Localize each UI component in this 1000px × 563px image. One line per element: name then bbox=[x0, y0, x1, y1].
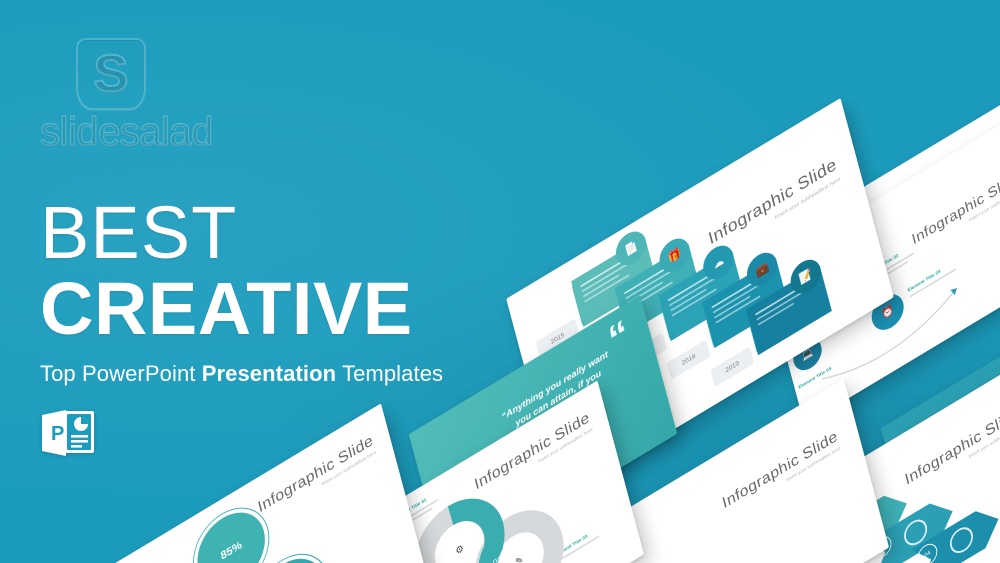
subheadline: Top PowerPoint Presentation Templates bbox=[40, 361, 470, 387]
slidesalad-shield-icon bbox=[76, 38, 146, 110]
svg-text:P: P bbox=[51, 423, 64, 445]
slidesalad-wordmark: slidesalad bbox=[40, 112, 213, 152]
open-quote-icon: “ bbox=[606, 318, 631, 354]
subheadline-suffix: Templates bbox=[336, 361, 443, 386]
hero-text-block: slidesalad BEST CREATIVE Top PowerPoint … bbox=[40, 36, 470, 457]
subheadline-emphasis: Presentation bbox=[202, 361, 336, 386]
percent-circle-0-value: 85% bbox=[219, 538, 243, 562]
slidesalad-logo[interactable]: slidesalad bbox=[40, 36, 250, 151]
headline-line-1: BEST bbox=[40, 197, 470, 268]
powerpoint-icon[interactable]: P bbox=[40, 409, 96, 457]
subheadline-prefix: Top PowerPoint bbox=[40, 361, 202, 386]
headline-line-2: CREATIVE bbox=[40, 272, 470, 345]
donut-segment-0: 01 bbox=[512, 483, 523, 497]
headline: BEST CREATIVE bbox=[40, 197, 470, 345]
slide-hero-stage: Element Title 01 Element Title 02 Elemen… bbox=[0, 0, 1000, 563]
